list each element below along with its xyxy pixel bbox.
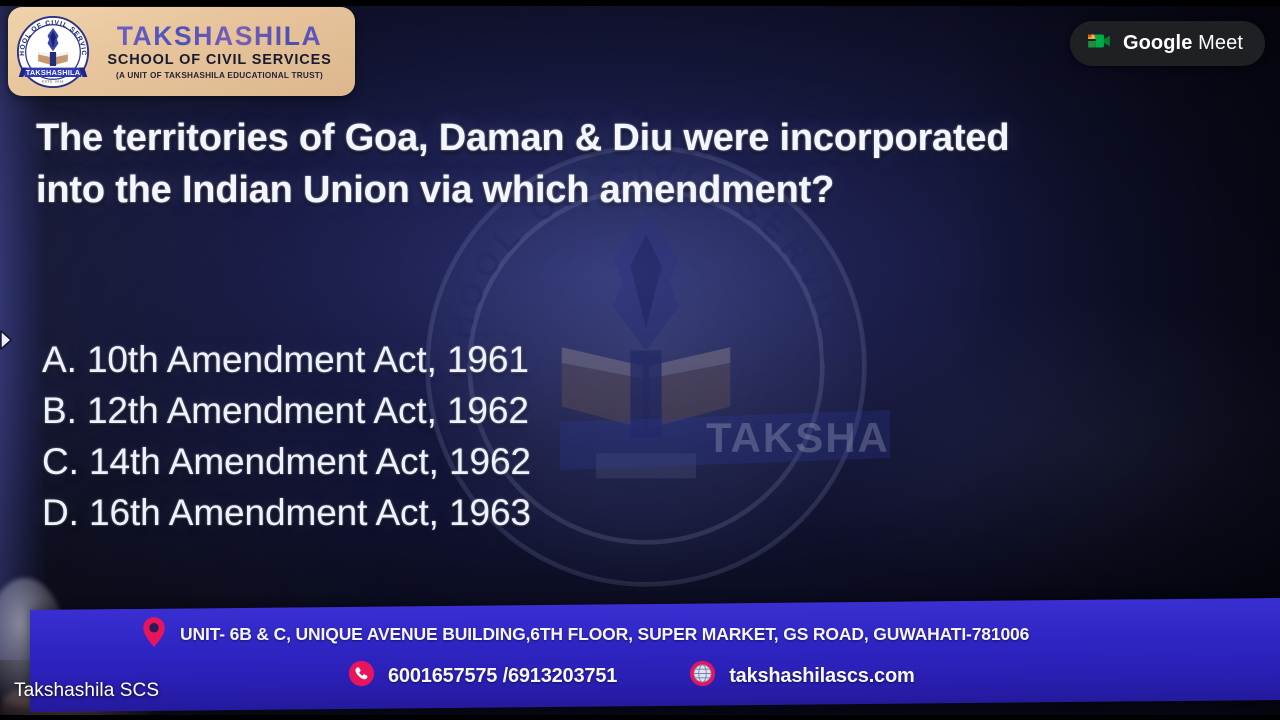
letterbox-top bbox=[0, 0, 1280, 6]
option-a-key: A. bbox=[42, 339, 77, 380]
globe-icon bbox=[689, 660, 716, 692]
banner-phone-text[interactable]: 6001657575 /6913203751 bbox=[388, 665, 617, 688]
participant-name-label: Takshashila SCS bbox=[14, 680, 159, 702]
institute-name: TAKSHASHILA bbox=[117, 23, 323, 50]
option-b-text: 12th Amendment Act, 1962 bbox=[87, 390, 529, 431]
banner-contact-row: 6001657575 /6913203751 bbox=[348, 660, 915, 692]
option-d: D. 16th Amendment Act, 1963 bbox=[42, 487, 531, 538]
option-b: B. 12th Amendment Act, 1962 bbox=[42, 385, 531, 436]
contact-banner: UNIT- 6B & C, UNIQUE AVENUE BUILDING,6TH… bbox=[30, 598, 1280, 712]
google-meet-label: Google Meet bbox=[1123, 32, 1243, 55]
answer-options-list: A. 10th Amendment Act, 1961 B. 12th Amen… bbox=[42, 334, 531, 538]
option-a: A. 10th Amendment Act, 1961 bbox=[42, 334, 531, 385]
option-b-key: B. bbox=[42, 390, 77, 431]
google-meet-label-google: Google bbox=[1123, 32, 1193, 54]
chevron-right-icon[interactable] bbox=[0, 324, 14, 356]
takshashila-crest-icon: SCHOOL OF CIVIL SERVICES TAKSHASHILA EST… bbox=[14, 13, 92, 91]
institute-logo-text: TAKSHASHILA SCHOOL OF CIVIL SERVICES (A … bbox=[92, 23, 355, 80]
banner-website-text[interactable]: takshashilascs.com bbox=[729, 665, 914, 688]
letterbox-bottom bbox=[0, 715, 1280, 720]
institute-logo-card: SCHOOL OF CIVIL SERVICES TAKSHASHILA EST… bbox=[8, 7, 355, 96]
meet-video-screen: SCHOOL OF CIVIL SERVICES TAKSHASHILA bbox=[0, 0, 1280, 720]
banner-address-text: UNIT- 6B & C, UNIQUE AVENUE BUILDING,6TH… bbox=[180, 624, 1029, 645]
option-c-text: 14th Amendment Act, 1962 bbox=[89, 441, 531, 482]
option-c: C. 14th Amendment Act, 1962 bbox=[42, 436, 531, 487]
banner-address-row: UNIT- 6B & C, UNIQUE AVENUE BUILDING,6TH… bbox=[142, 616, 1029, 653]
question-text: The territories of Goa, Daman & Diu were… bbox=[36, 112, 1026, 216]
google-meet-camera-icon bbox=[1086, 30, 1112, 57]
crest-banner-text: TAKSHASHILA bbox=[26, 67, 81, 76]
svg-text:ESTD. 2016: ESTD. 2016 bbox=[42, 79, 64, 83]
phone-icon bbox=[348, 660, 375, 692]
institute-tagline: SCHOOL OF CIVIL SERVICES bbox=[107, 53, 331, 68]
google-meet-label-meet: Meet bbox=[1198, 32, 1243, 54]
institute-trust-line: (A UNIT OF TAKSHASHILA EDUCATIONAL TRUST… bbox=[116, 72, 323, 80]
option-a-text: 10th Amendment Act, 1961 bbox=[87, 339, 529, 380]
option-d-key: D. bbox=[42, 492, 79, 533]
google-meet-badge: Google Meet bbox=[1070, 21, 1265, 66]
option-c-key: C. bbox=[42, 441, 79, 482]
location-pin-icon bbox=[142, 616, 166, 653]
option-d-text: 16th Amendment Act, 1963 bbox=[89, 492, 531, 533]
